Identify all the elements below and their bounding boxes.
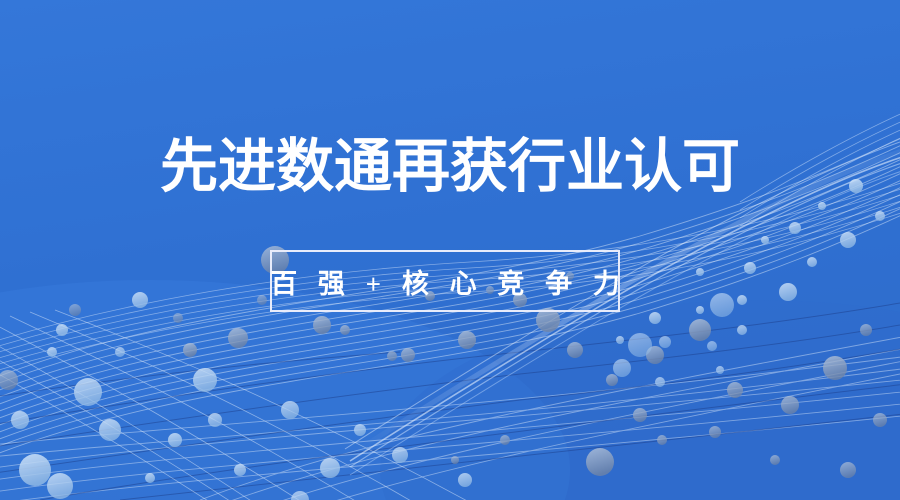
banner-title: 先进数通再获行业认可 bbox=[0, 136, 900, 199]
banner-content: 先进数通再获行业认可 百 强 + 核 心 竞 争 力 bbox=[0, 0, 900, 500]
subtitle-frame: 百 强 + 核 心 竞 争 力 bbox=[270, 250, 620, 312]
banner-subtitle: 百 强 + 核 心 竞 争 力 bbox=[263, 262, 627, 301]
promo-banner: 先进数通再获行业认可 百 强 + 核 心 竞 争 力 bbox=[0, 0, 900, 500]
